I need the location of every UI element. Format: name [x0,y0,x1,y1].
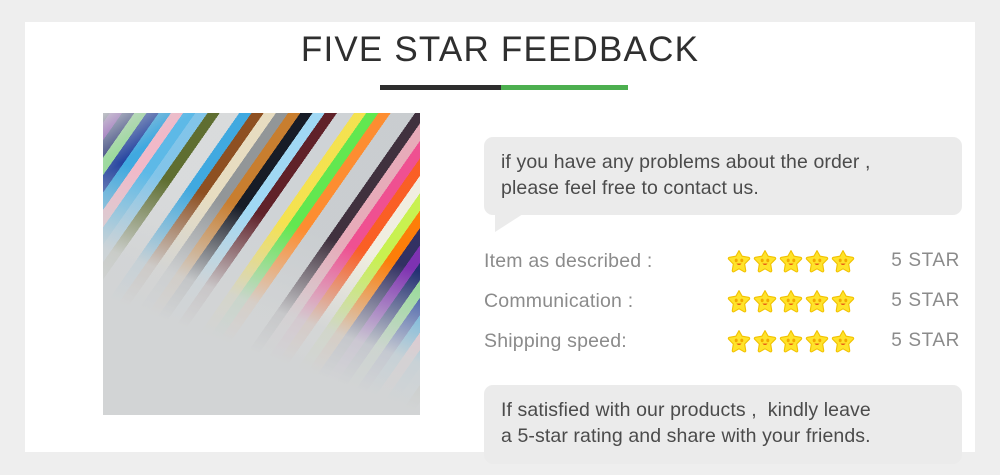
feedback-column: if you have any problems about the order… [484,113,962,464]
table-row: Shipping speed: [484,321,962,361]
rating-stars-communication [727,289,858,313]
content-panel: FIVE STAR FEEDBACK if you have any probl… [25,22,975,452]
review-request-line-1: If satisfied with our products , kindly … [501,398,946,424]
rating-label-shipping-speed: Shipping speed: [484,330,727,353]
star-icon [753,249,777,273]
star-icon [831,249,855,273]
table-row: Communication : [484,281,962,321]
underline-green-segment [501,85,628,90]
underline-dark-segment [380,85,501,90]
ratings-list: Item as described : [484,241,962,361]
rating-stars-shipping-speed [727,329,858,353]
rating-stars-item-as-described [727,249,858,273]
star-icon [779,249,803,273]
review-request-bubble: If satisfied with our products , kindly … [484,385,962,463]
star-icon [727,249,751,273]
star-icon [831,289,855,313]
product-photo [103,113,420,415]
rating-value-item-as-described: 5 STAR [858,250,962,272]
table-row: Item as described : [484,241,962,281]
star-icon [727,289,751,313]
spacer [484,361,962,385]
star-icon [831,329,855,353]
photo-fade-overlay-top [103,113,420,415]
review-request-line-2: a 5-star rating and share with your frie… [501,424,946,450]
page-title: FIVE STAR FEEDBACK [25,22,975,70]
star-icon [805,249,829,273]
contact-message-bubble: if you have any problems about the order… [484,137,962,215]
header: FIVE STAR FEEDBACK [25,22,975,70]
contact-message-line-1: if you have any problems about the order… [501,150,946,176]
rating-label-communication: Communication : [484,290,727,313]
star-icon [779,289,803,313]
star-icon [805,289,829,313]
title-underline [380,85,628,90]
star-icon [753,329,777,353]
star-icon [727,329,751,353]
contact-message-line-2: please feel free to contact us. [501,176,946,202]
star-icon [779,329,803,353]
star-icon [805,329,829,353]
rating-label-item-as-described: Item as described : [484,250,727,273]
rating-value-shipping-speed: 5 STAR [858,330,962,352]
star-icon [753,289,777,313]
rating-value-communication: 5 STAR [858,290,962,312]
feedback-banner: FIVE STAR FEEDBACK if you have any probl… [0,0,1000,475]
